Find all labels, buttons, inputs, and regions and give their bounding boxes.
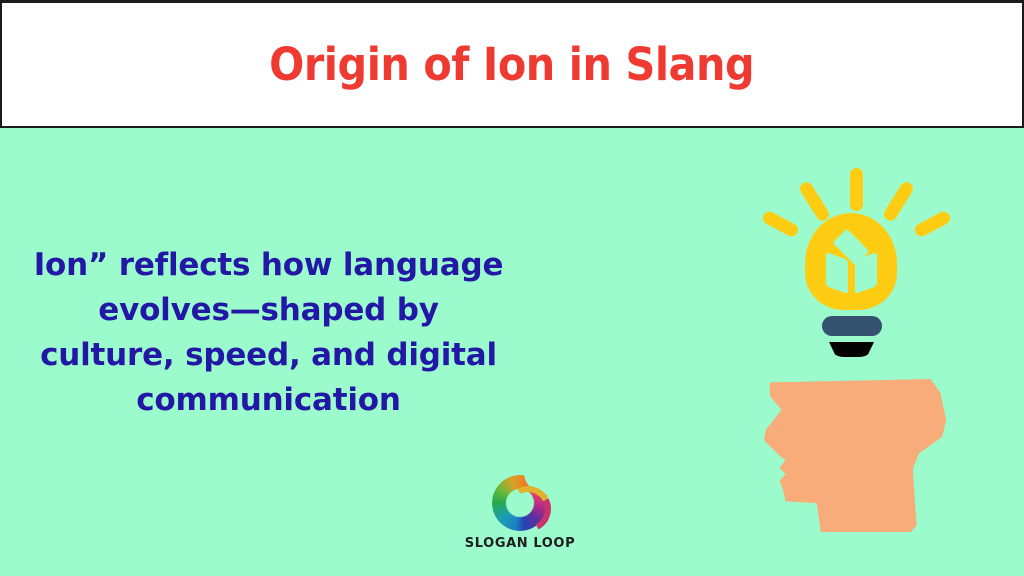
lightbulb-icon [740, 150, 972, 365]
slide-canvas: Origin of Ion in Slang Ion” reflects how… [0, 0, 1024, 576]
logo-wordmark: SLOGAN LOOP [455, 536, 585, 551]
cube-left-face [826, 252, 848, 294]
rainbow-loop-ring-icon [492, 475, 548, 531]
head-profile-icon [758, 362, 954, 532]
body-line-3: culture, speed, and digital [26, 333, 511, 378]
bulb-ray-center-icon [850, 168, 863, 211]
isometric-cube-icon [805, 213, 897, 310]
header-band: Origin of Ion in Slang [0, 0, 1024, 128]
bulb-cap [829, 342, 874, 357]
body-line-2: evolves—shaped by [26, 288, 511, 333]
cube-right-face [855, 252, 877, 294]
body-line-4: communication [26, 378, 511, 423]
body-copy: Ion” reflects how language evolves—shape… [26, 243, 511, 423]
page-title: Origin of Ion in Slang [269, 42, 754, 87]
bulb-ray-far-left-icon [761, 209, 801, 238]
bulb-glass [805, 213, 897, 310]
idea-head-illustration [740, 150, 972, 530]
bulb-base [822, 316, 882, 336]
bulb-ray-far-right-icon [913, 209, 953, 238]
body-line-1: Ion” reflects how language [26, 243, 511, 288]
slogan-loop-logo: SLOGAN LOOP [455, 475, 585, 551]
